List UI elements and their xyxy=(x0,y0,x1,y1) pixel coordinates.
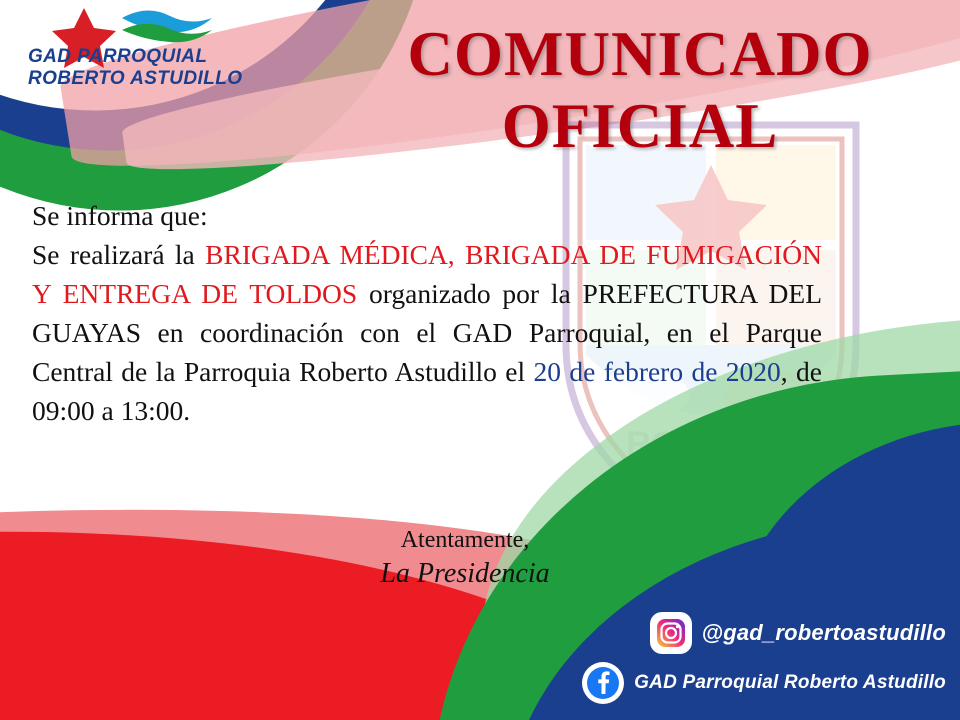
paragraph-part-a: Se realizará la xyxy=(32,239,205,270)
instagram-row[interactable]: @gad_robertoastudillo xyxy=(476,612,946,654)
title-line-1: COMUNICADO xyxy=(408,19,873,89)
facebook-handle: GAD Parroquial Roberto Astudillo xyxy=(634,672,946,694)
facebook-row[interactable]: GAD Parroquial Roberto Astudillo xyxy=(476,662,946,704)
main-paragraph: Se realizará la BRIGADA MÉDICA, BRIGADA … xyxy=(32,235,822,430)
instagram-icon[interactable] xyxy=(650,612,692,654)
logo-text: GAD PARROQUIAL ROBERTO ASTUDILLO xyxy=(28,46,242,90)
paragraph-date: 20 de febrero de 2020 xyxy=(534,356,781,387)
signature-block: Atentamente, La Presidencia xyxy=(300,525,630,593)
logo-line-1: GAD PARROQUIAL xyxy=(28,46,242,68)
facebook-icon[interactable] xyxy=(582,662,624,704)
page-title: COMUNICADO OFICIAL xyxy=(360,18,920,162)
instagram-handle: @gad_robertoastudillo xyxy=(702,620,946,646)
title-line-2: OFICIAL xyxy=(360,90,920,162)
logo-line-2: ROBERTO ASTUDILLO xyxy=(28,68,242,90)
signature-name: La Presidencia xyxy=(300,555,630,593)
signature-greeting: Atentamente, xyxy=(300,525,630,555)
social-links: @gad_robertoastudillo GAD Parroquial Rob… xyxy=(476,612,946,712)
poster-canvas: ROBERTO GAD PARROQUIAL ROBERTO ASTUDILLO… xyxy=(0,0,960,720)
intro-line: Se informa que: xyxy=(32,196,822,235)
announcement-body: Se informa que: Se realizará la BRIGADA … xyxy=(32,196,822,430)
